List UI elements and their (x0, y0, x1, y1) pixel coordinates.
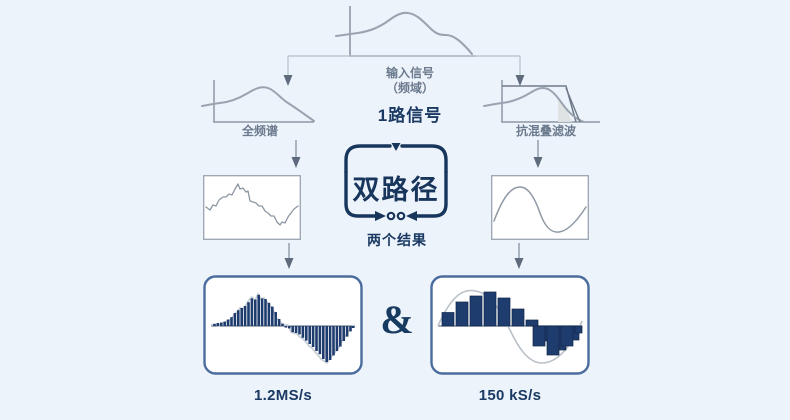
low-rate-sampling-box (430, 275, 590, 375)
input-signal-caption-line1: 输入信号 (345, 66, 475, 81)
anti-alias-filter-plot (480, 78, 606, 130)
full-spectrum-plot (200, 78, 320, 130)
high-rate-sampling-box (203, 275, 363, 375)
input-signal-caption-line2: （频域） (345, 81, 475, 96)
noisy-waveform-box (203, 175, 301, 240)
two-results-label: 两个结果 (345, 230, 449, 250)
arrow-noisy-to-high-rate (282, 243, 296, 271)
anti-alias-filter-label: 抗混叠滤波 (483, 124, 609, 139)
ampersand-separator: & (374, 296, 420, 343)
diagram-canvas: 输入信号 （频域） 1路信号 全频谱 抗混叠滤波 (0, 0, 790, 420)
full-spectrum-label: 全频谱 (200, 124, 320, 139)
high-rate-label: 1.2MS/s (203, 387, 363, 404)
dual-path-title: 双路径 (347, 168, 445, 207)
arrow-sine-to-low-rate (512, 243, 526, 271)
one-channel-label: 1路信号 (345, 101, 475, 126)
arrow-right-to-sine-box (531, 140, 545, 170)
arrow-left-to-noisy-box (289, 140, 303, 170)
sine-waveform-box (491, 175, 589, 240)
low-rate-label: 150 kS/s (430, 387, 590, 404)
